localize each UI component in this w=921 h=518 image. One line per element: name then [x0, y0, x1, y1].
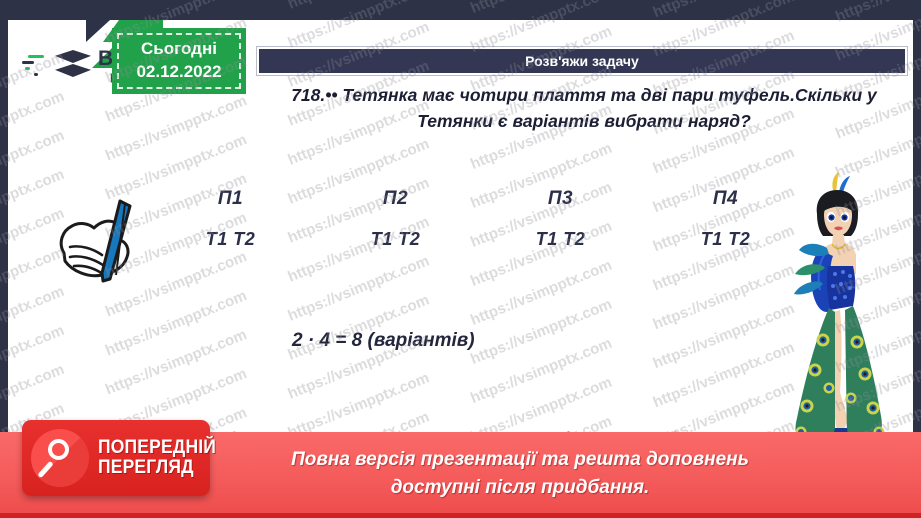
slide-title-bar: Розв'яжи задачу: [257, 47, 907, 75]
today-label: Сьогодні: [141, 38, 217, 61]
today-date-badge: Сьогодні 02.12.2022: [112, 28, 246, 94]
purchase-banner-text: Повна версія презентації та решта доповн…: [180, 446, 860, 501]
graduation-cap-icon: [53, 48, 93, 82]
presentation-slide: ВСІМ pptx Сьогодні 02.12.2022 Розв'яжи з…: [0, 0, 921, 518]
options-grid: П1 Т1 Т2 П2 Т1 Т2 П3 Т1 Т2 П4 Т1 Т2: [148, 188, 808, 250]
shoes-label: Т1 Т2: [313, 229, 478, 250]
watermark-text: https://vsimpptx.com: [286, 0, 432, 13]
dress-label: П3: [478, 188, 643, 210]
purchase-banner-line1: Повна версія презентації та решта доповн…: [180, 446, 860, 474]
watermark-text: https://vsimpptx.com: [651, 0, 797, 21]
logo-dashes-icon: [22, 55, 48, 76]
solution-equation: 2 · 4 = 8 (варіантів): [292, 330, 475, 352]
slide-title: Розв'яжи задачу: [525, 53, 639, 69]
preview-badge[interactable]: ПОПЕРЕДНІЙ ПЕРЕГЛЯД: [22, 420, 210, 496]
problem-statement: 718.•• Тетянка має чотири плаття та дві …: [260, 82, 908, 135]
dress-label: П2: [313, 188, 478, 210]
watermark-text: https://vsimpptx.com: [468, 0, 614, 17]
today-date: 02.12.2022: [136, 61, 221, 84]
option-column: П3 Т1 Т2: [478, 188, 643, 250]
option-column: П2 Т1 Т2: [313, 188, 478, 250]
shoes-label: Т1 Т2: [478, 229, 643, 250]
dress-label: П1: [148, 188, 313, 210]
banner-bottom-strip: [0, 513, 921, 518]
option-column: П1 Т1 Т2: [148, 188, 313, 250]
shoes-label: Т1 Т2: [148, 229, 313, 250]
magnifier-icon: [31, 429, 89, 487]
woman-in-peacock-dress-illustration: [783, 170, 893, 455]
preview-badge-text: ПОПЕРЕДНІЙ ПЕРЕГЛЯД: [98, 438, 216, 478]
slide-content-card: ВСІМ pptx Сьогодні 02.12.2022 Розв'яжи з…: [8, 20, 913, 475]
hand-with-pen-icon: [46, 195, 156, 300]
preview-badge-line1: ПОПЕРЕДНІЙ: [98, 438, 216, 458]
purchase-banner-line2: доступні після придбання.: [180, 474, 860, 502]
preview-badge-line2: ПЕРЕГЛЯД: [98, 458, 216, 478]
